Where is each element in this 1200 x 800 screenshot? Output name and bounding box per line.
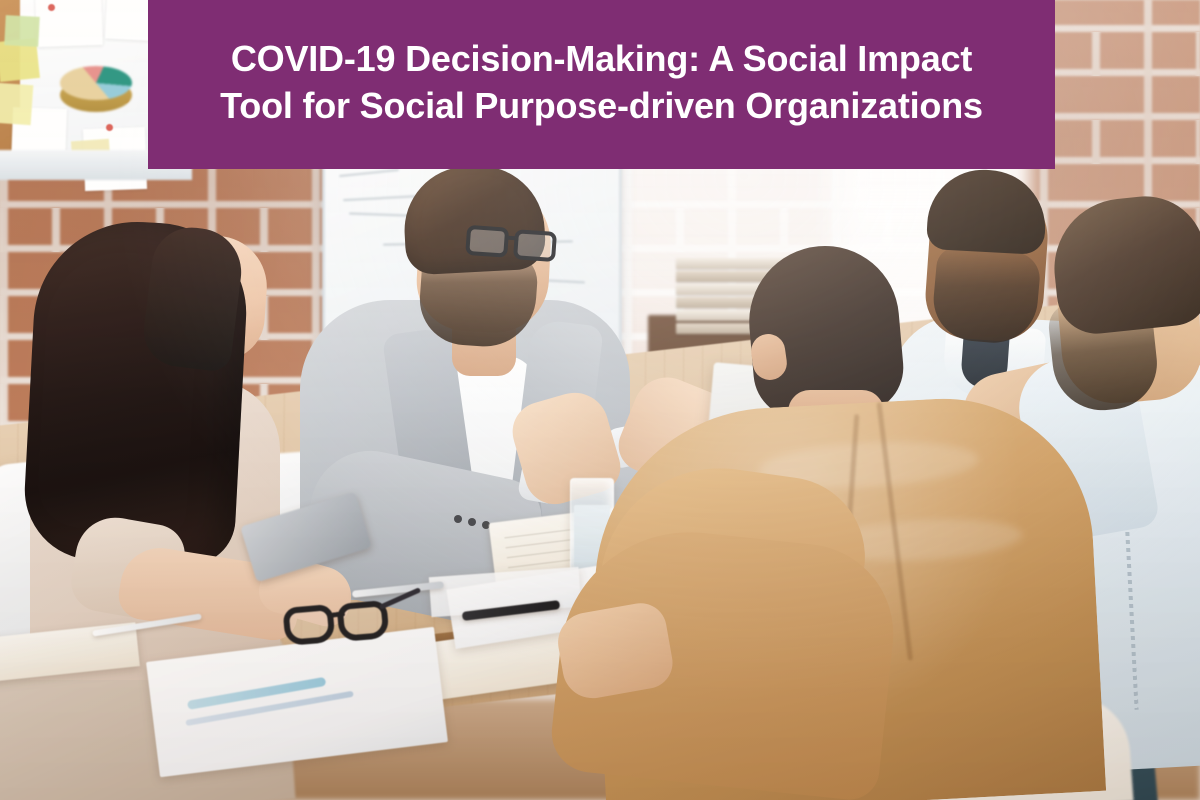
pushpin-icon bbox=[48, 4, 55, 11]
eyeglasses-on-table bbox=[282, 600, 398, 644]
sticky-note-green bbox=[4, 15, 40, 47]
blazer-button bbox=[468, 518, 476, 526]
lens-left bbox=[465, 225, 509, 258]
sticky-note-pale bbox=[0, 83, 33, 125]
corkboard-note bbox=[35, 0, 103, 47]
title-line-1: COVID-19 Decision-Making: A Social Impac… bbox=[231, 36, 972, 82]
title-line-2: Tool for Social Purpose-driven Organizat… bbox=[220, 83, 983, 129]
pushpin-icon bbox=[106, 124, 113, 131]
blazer-button bbox=[454, 515, 462, 523]
pie-chart-slices bbox=[60, 66, 132, 100]
corkboard-pie-chart bbox=[58, 58, 136, 120]
title-banner: COVID-19 Decision-Making: A Social Impac… bbox=[148, 0, 1055, 169]
glasses-bridge bbox=[506, 236, 518, 241]
lens-right bbox=[513, 229, 557, 262]
eyeglasses-worn bbox=[465, 225, 559, 265]
page-root: COVID-19 Decision-Making: A Social Impac… bbox=[0, 0, 1200, 800]
lens-left bbox=[282, 604, 335, 646]
